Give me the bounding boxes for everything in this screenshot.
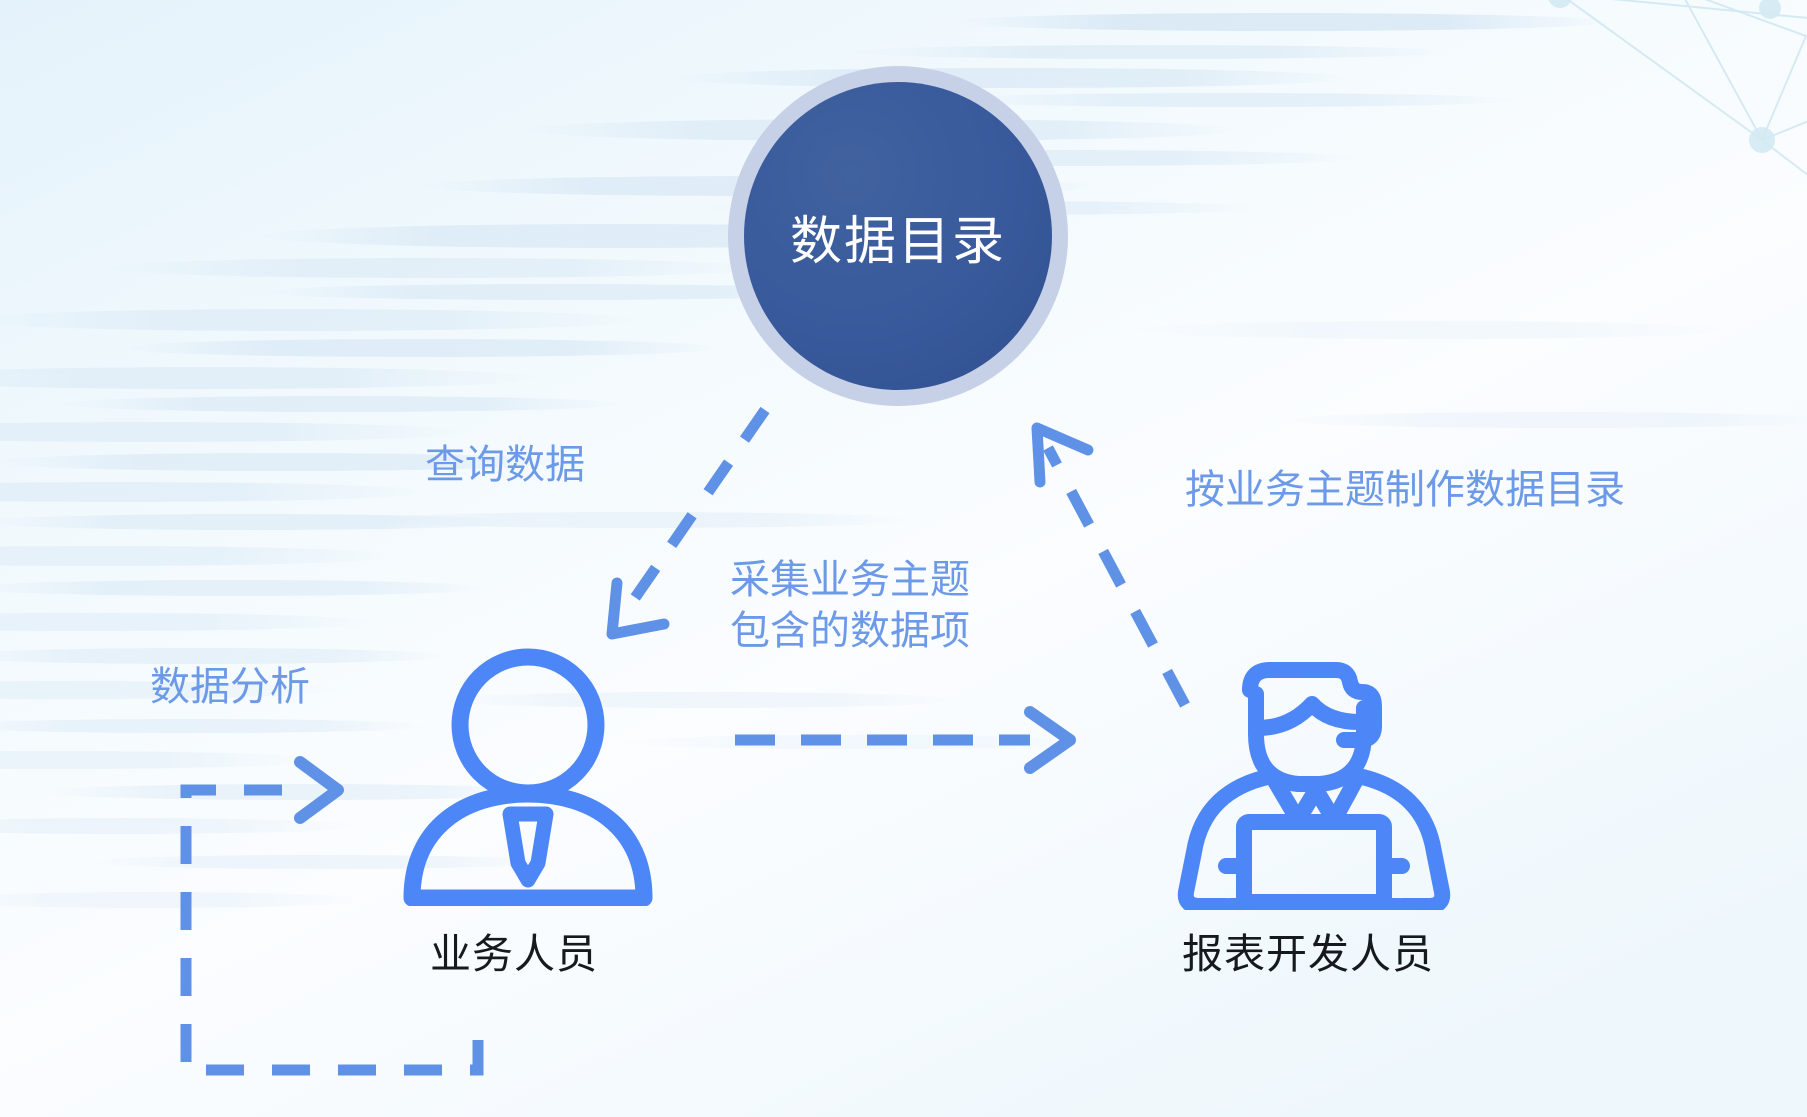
person-laptop-icon (1168, 630, 1458, 910)
edge-label-data-analysis: 数据分析 (150, 662, 310, 713)
edge-collect-items-line (735, 712, 1070, 768)
edge-label-collect-items-line2: 包含的数据项 (730, 606, 970, 657)
person-tie-icon (398, 648, 658, 906)
edge-label-collect-items: 采集业务主题 包含的数据项 (730, 555, 970, 657)
report-developer-icon-wrap[interactable] (1168, 630, 1458, 910)
edge-label-collect-items-line1: 采集业务主题 (730, 555, 970, 606)
data-catalog-label: 数据目录 (790, 199, 1006, 274)
edge-build-catalog-line (1037, 428, 1185, 705)
edge-label-query-data: 查询数据 (425, 440, 585, 491)
report-developer-label: 报表开发人员 (1182, 920, 1434, 980)
business-user-icon-wrap[interactable] (398, 648, 658, 906)
business-user-label: 业务人员 (430, 920, 598, 980)
data-catalog-node[interactable]: 数据目录 (728, 66, 1068, 406)
diagram-canvas: 数据目录 业务人员 (0, 0, 1807, 1117)
edge-label-build-catalog: 按业务主题制作数据目录 (1185, 465, 1625, 516)
